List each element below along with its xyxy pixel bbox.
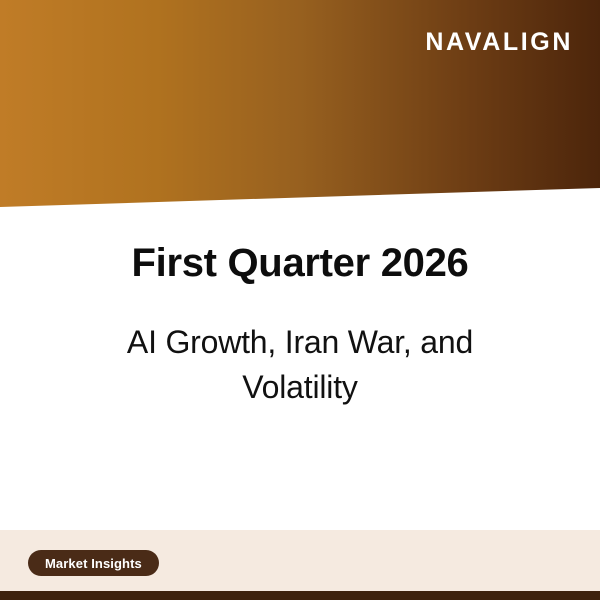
- status-badge: Market Insights: [28, 550, 159, 576]
- page-subtitle: AI Growth, Iran War, and Volatility: [80, 320, 520, 411]
- page-title: First Quarter 2026: [0, 240, 600, 286]
- footer-divider-rule: [0, 591, 600, 600]
- slide-content: First Quarter 2026 AI Growth, Iran War, …: [0, 240, 600, 411]
- presentation-slide: NAVALIGN First Quarter 2026 AI Growth, I…: [0, 0, 600, 600]
- footer-band: Market Insights: [0, 530, 600, 600]
- brand-logo: NAVALIGN: [425, 30, 573, 55]
